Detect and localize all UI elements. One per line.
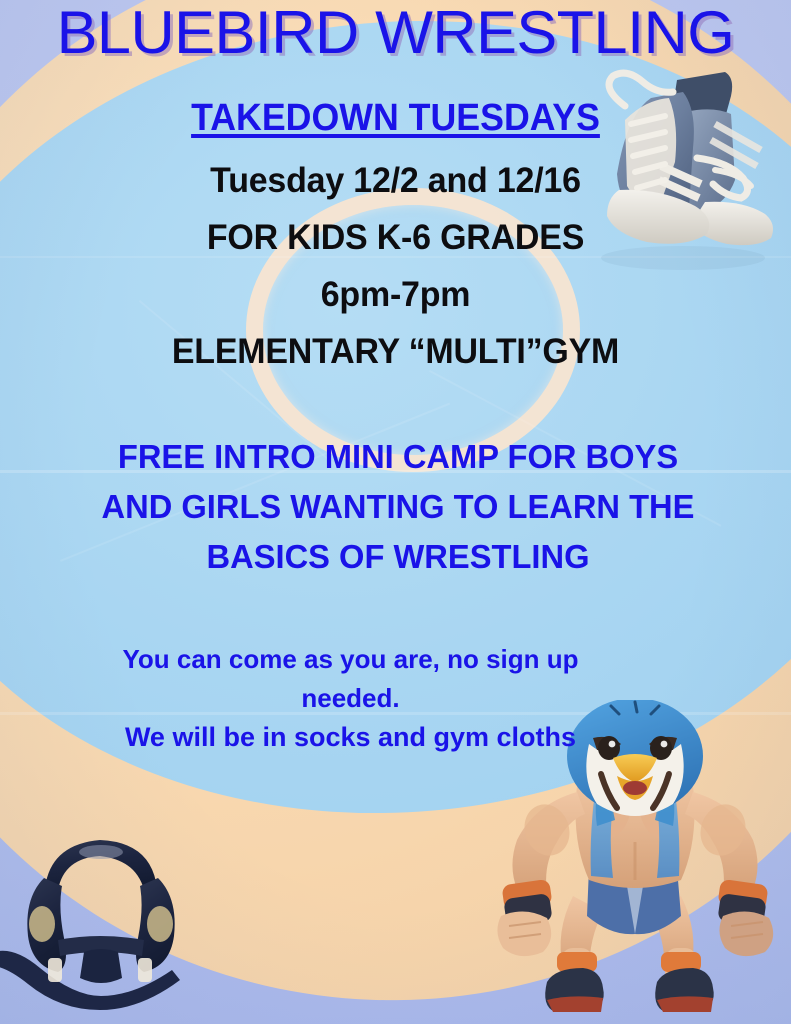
camp-headline-line-1: FREE INTRO MINI CAMP FOR BOYS — [34, 432, 763, 482]
event-grades: FOR KIDS K-6 GRADES — [12, 209, 779, 266]
event-place: ELEMENTARY “MULTI”GYM — [12, 323, 779, 380]
poster-subtitle: TAKEDOWN TUESDAYS — [24, 97, 768, 139]
event-date: Tuesday 12/2 and 12/16 — [12, 152, 779, 209]
camp-headline-line-2: AND GIRLS WANTING TO LEARN THE — [34, 482, 763, 532]
poster-subtitle-underlined: TAKEDOWN TUESDAYS — [191, 97, 600, 139]
event-time: 6pm-7pm — [12, 266, 779, 323]
event-details-block: Tuesday 12/2 and 12/16 FOR KIDS K-6 GRAD… — [12, 152, 779, 380]
camp-headline-line-3: BASICS OF WRESTLING — [34, 532, 763, 582]
flyer-text-content: BLUEBIRD WRESTLING TAKEDOWN TUESDAYS Tue… — [0, 0, 791, 1024]
attendance-note-line-1: You can come as you are, no sign up — [30, 640, 671, 679]
attendance-note-line-2: needed. — [30, 679, 671, 718]
attendance-note-line-3: We will be in socks and gym cloths — [30, 718, 671, 757]
poster-title: BLUEBIRD WRESTLING — [0, 2, 791, 64]
attendance-note-block: You can come as you are, no sign up need… — [30, 640, 671, 757]
camp-headline-block: FREE INTRO MINI CAMP FOR BOYS AND GIRLS … — [34, 432, 763, 582]
wrestling-flyer-poster: BLUEBIRD WRESTLING TAKEDOWN TUESDAYS Tue… — [0, 0, 791, 1024]
